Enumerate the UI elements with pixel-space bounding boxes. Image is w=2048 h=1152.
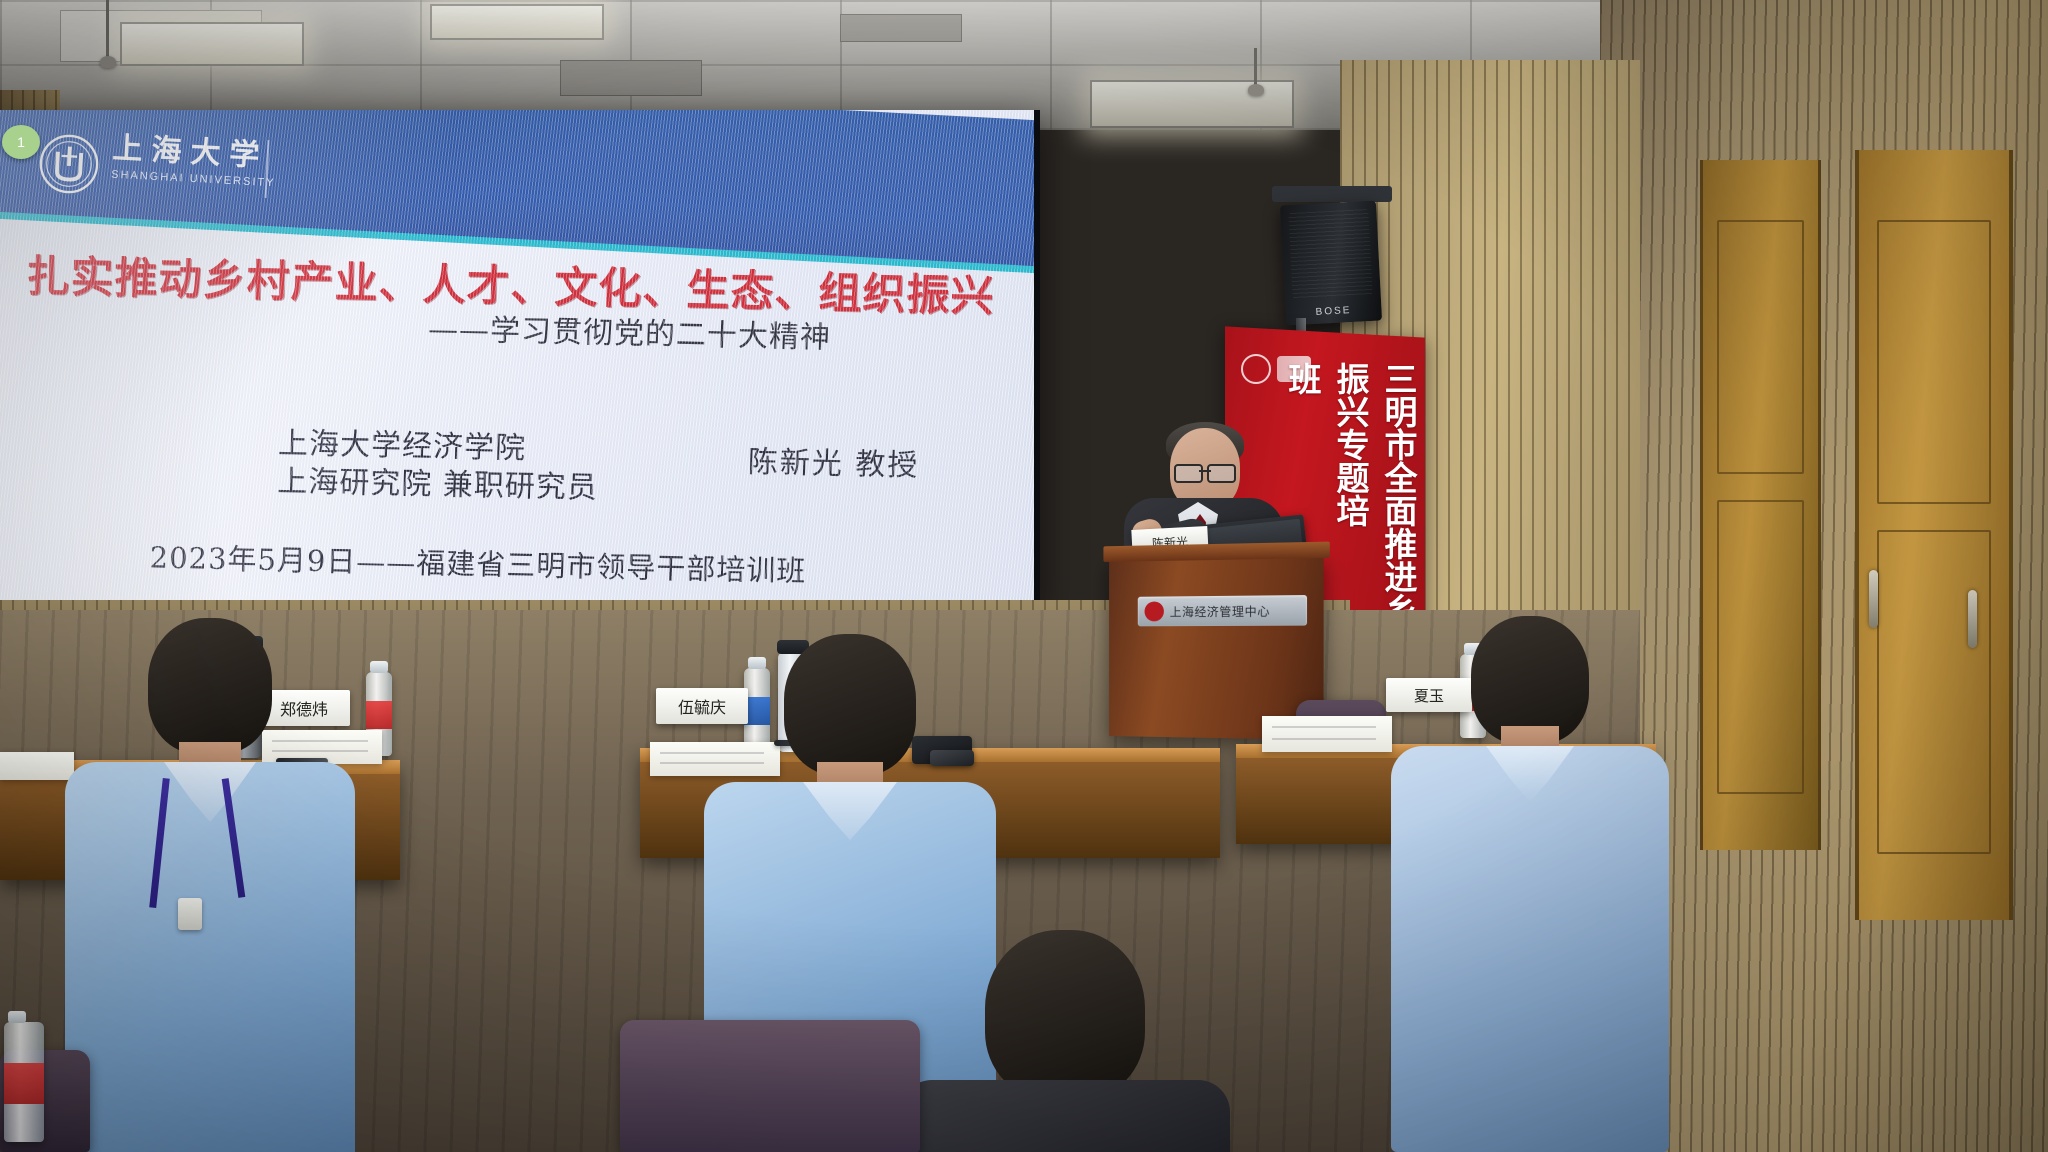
notebook <box>1262 716 1392 752</box>
attendee-left <box>60 610 360 1152</box>
door-secondary[interactable] <box>1700 160 1821 850</box>
attendee-right <box>1390 600 1670 1152</box>
paper-line <box>1272 738 1376 740</box>
speaker-grille <box>1288 209 1372 299</box>
water-bottle[interactable] <box>4 1022 44 1142</box>
slide-presenter: 陈新光 教授 <box>747 437 919 485</box>
door-handle[interactable] <box>1869 570 1878 628</box>
slide-content: 扎实推动乡村产业、人才、文化、生态、组织振兴 ——学习贯彻党的二十大精神 上海大… <box>0 110 1034 604</box>
lens-right <box>1207 464 1236 483</box>
projection-screen-frame: 上海大学 SHANGHAI UNIVERSITY 扎实推动乡村产业、人才、文化、… <box>0 110 1040 610</box>
affiliation-line-1: 上海大学经济学院 <box>278 425 599 470</box>
speaker-brand-label: BOSE <box>1315 305 1351 318</box>
door-panel <box>1877 220 1991 504</box>
podium: 上海经济管理中心 <box>1109 554 1323 740</box>
door-panel <box>1717 500 1804 794</box>
ceiling-sensor <box>100 56 116 68</box>
banner-column-2: 振兴专题培 <box>1323 362 1367 527</box>
wall-speaker: BOSE <box>1280 201 1382 326</box>
paper-line <box>1272 726 1376 728</box>
door-handle[interactable] <box>1968 590 1977 648</box>
attendee-foreground <box>900 930 1230 1152</box>
photo-scene: BOSE 上海大学 SHANGHAI UNIVERSITY 扎实推动乡村产业、人… <box>0 0 2048 1152</box>
podium-emblem-icon <box>1145 601 1164 621</box>
bottle-label <box>4 1063 44 1104</box>
attendee-torso <box>1391 746 1669 1152</box>
glasses-bridge <box>1199 470 1211 472</box>
affiliation-line-2: 上海研究院 兼职研究员 <box>277 463 598 508</box>
attendee-head <box>985 930 1145 1100</box>
door-panel <box>1717 220 1804 474</box>
podium-plate-text: 上海经济管理中心 <box>1170 602 1270 620</box>
door-main[interactable] <box>1855 150 2013 920</box>
speaker-mount <box>1272 186 1392 202</box>
podium-top <box>1103 542 1329 562</box>
chair[interactable] <box>620 1020 920 1152</box>
attendee-head <box>784 634 916 776</box>
bottle-cap <box>370 661 388 673</box>
eyeglasses-icon <box>1174 464 1236 479</box>
attendee-head <box>148 618 272 754</box>
ceiling-rod <box>1254 48 1257 88</box>
ceiling-sensor <box>1248 84 1264 96</box>
door-panel <box>1877 530 1991 854</box>
slide-dateline: 2023年5月9日——福建省三明市领导干部培训班 <box>149 534 806 590</box>
slide-affiliation: 上海大学经济学院 上海研究院 兼职研究员 <box>277 425 599 508</box>
banner-column-3: 班 <box>1275 362 1319 395</box>
ceiling-rod <box>106 0 109 60</box>
bottle-label <box>366 701 392 730</box>
lens-left <box>1174 464 1203 483</box>
id-badge <box>178 898 202 930</box>
podium-plate: 上海经济管理中心 <box>1138 595 1307 626</box>
attendee-torso <box>900 1080 1230 1152</box>
attendee-head <box>1471 616 1589 744</box>
bottle-cap <box>8 1011 26 1023</box>
slide-number-badge: 1 <box>2 125 40 159</box>
projection-screen[interactable]: 上海大学 SHANGHAI UNIVERSITY 扎实推动乡村产业、人才、文化、… <box>0 110 1034 604</box>
